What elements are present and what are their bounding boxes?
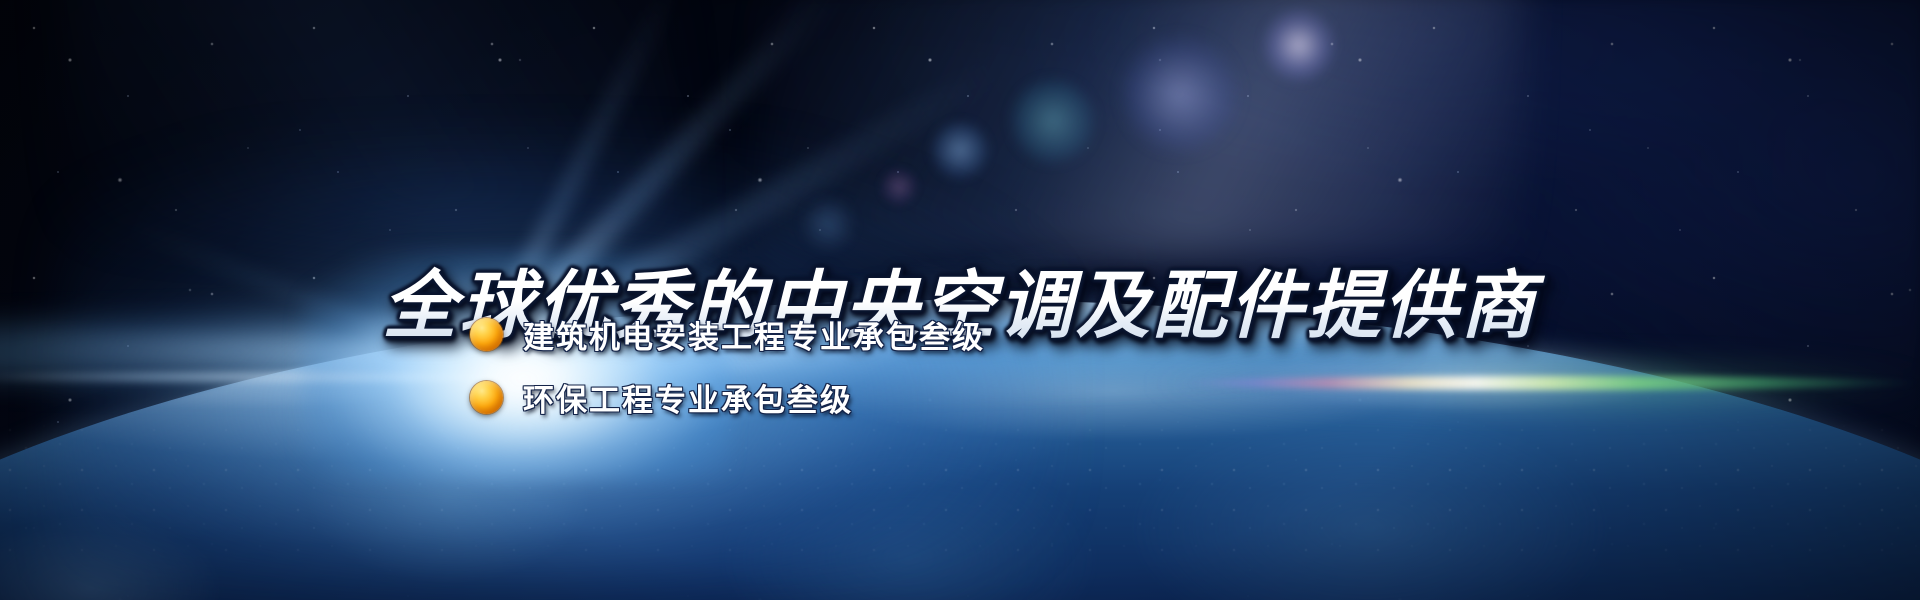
banner-content: 全球优秀的中央空调及配件提供商 建筑机电安装工程专业承包叁级 环保工程专业承包叁… (0, 0, 1920, 600)
hero-banner: 全球优秀的中央空调及配件提供商 建筑机电安装工程专业承包叁级 环保工程专业承包叁… (0, 0, 1920, 600)
orange-dot-icon (470, 381, 503, 414)
list-item: 建筑机电安装工程专业承包叁级 (470, 312, 985, 357)
list-item: 环保工程专业承包叁级 (470, 375, 985, 420)
certification-label: 环保工程专业承包叁级 (523, 375, 853, 420)
orange-dot-icon (470, 318, 503, 351)
certification-list: 建筑机电安装工程专业承包叁级 环保工程专业承包叁级 (470, 312, 985, 420)
certification-label: 建筑机电安装工程专业承包叁级 (523, 312, 985, 357)
